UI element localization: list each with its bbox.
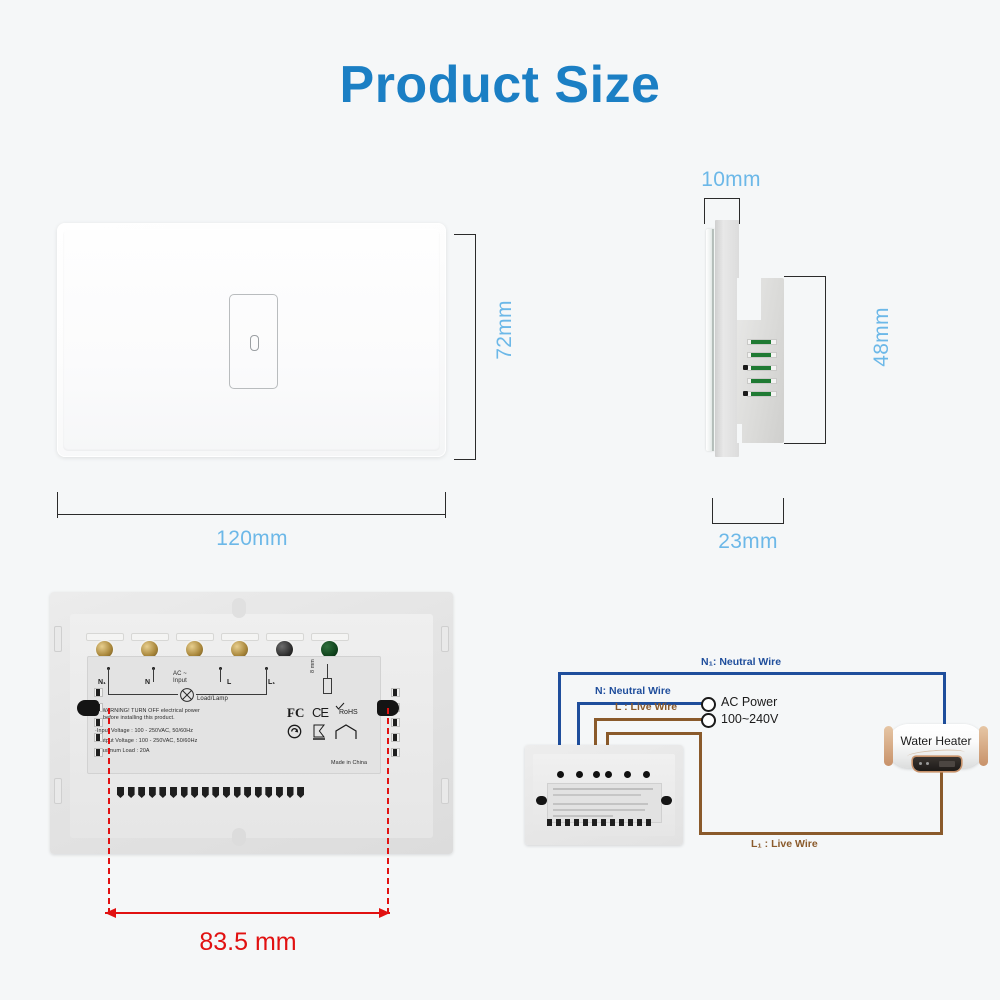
recycle-icon xyxy=(287,724,302,739)
terminal-screw-dot xyxy=(743,365,748,370)
plate-ear xyxy=(54,778,62,804)
terminal-slot xyxy=(747,339,777,345)
module-depth-label: 23mm xyxy=(688,530,808,554)
module-depth-dimension-line xyxy=(712,498,784,524)
label-l-live-wire: L : Live Wire xyxy=(615,701,677,713)
terminal-slot xyxy=(747,365,777,371)
side-glass-edge xyxy=(712,229,714,451)
terminal-screw-dot xyxy=(743,391,748,396)
load-lamp-label: Load/Lamp xyxy=(197,696,228,704)
terminal-label-n: N xyxy=(145,679,150,686)
terminal-label-l: L xyxy=(227,679,231,686)
label-n1-neutral-wire: N₁: Neutral Wire xyxy=(701,656,781,668)
wire-l-horizontal xyxy=(594,718,705,721)
housing-notch xyxy=(737,424,742,443)
wiring-left-clip xyxy=(536,796,547,805)
made-in-china-house-icon xyxy=(335,724,357,740)
touch-key-button[interactable] xyxy=(229,294,278,389)
height-dimension-label: 72mm xyxy=(493,295,517,365)
water-heater-appliance: Water Heater xyxy=(887,724,985,774)
touch-switch-back-plate: N₁ N L L₁ AC ~ Input Load/Lamp 8 mm ⚠ WA… xyxy=(50,592,453,854)
housing-notch xyxy=(737,278,761,320)
voltage-terminal-icon xyxy=(701,713,716,728)
wire-n1-heater-drop xyxy=(943,672,946,728)
wiring-switch-label xyxy=(547,783,662,823)
ac-power-label: AC Power xyxy=(721,695,777,709)
wiring-terminal-dot xyxy=(557,771,564,778)
weee-hourglass-icon xyxy=(312,724,326,740)
label-n-neutral-wire: N: Neutral Wire xyxy=(595,685,671,697)
height-dimension-line xyxy=(458,234,492,460)
origin-label: Made in China xyxy=(331,760,367,767)
rohs-check-icon xyxy=(335,702,345,711)
top-tab xyxy=(232,598,246,618)
module-height-label: 48mm xyxy=(870,302,894,372)
wire-n1-horizontal xyxy=(558,672,946,675)
bottom-tab xyxy=(232,828,246,846)
terminal-cap xyxy=(176,633,214,641)
left-callout-dashed-line xyxy=(108,708,110,914)
wiring-right-clip xyxy=(661,796,672,805)
wiring-switch-module xyxy=(525,745,683,845)
ce-icon: CE xyxy=(312,705,328,720)
page-title: Product Size xyxy=(0,55,1000,115)
wiring-terminal-dot xyxy=(643,771,650,778)
label-l1-live-wire: L₁ : Live Wire xyxy=(751,838,818,850)
left-mounting-clip xyxy=(77,700,99,716)
heater-control-panel xyxy=(913,757,961,771)
terminal-slot xyxy=(747,391,777,397)
strip-length-label: 8 mm xyxy=(310,659,317,673)
terminal-cap xyxy=(86,633,124,641)
wire-l1-heater-riser xyxy=(940,770,943,835)
terminal-slot xyxy=(747,352,777,358)
mounting-width-dimension xyxy=(105,912,390,914)
wire-l1-horizontal xyxy=(606,732,702,735)
wire-l1-bottom-rail xyxy=(699,832,943,835)
plate-ear xyxy=(441,626,449,652)
fcc-icon: FC xyxy=(287,705,304,721)
lamp-symbol-icon xyxy=(179,687,195,703)
terminal-cap xyxy=(131,633,169,641)
wiring-terminal-dot xyxy=(624,771,631,778)
mounting-width-label: 83.5 mm xyxy=(120,928,376,957)
plate-ear xyxy=(54,626,62,652)
width-dimension-line xyxy=(57,492,446,518)
glass-thickness-label: 10mm xyxy=(686,168,776,192)
spec-output-voltage: ·Output Voltage : 100 - 250VAC, 50/60Hz xyxy=(95,738,197,745)
terminal-cap xyxy=(266,633,304,641)
touch-switch-front-panel xyxy=(57,223,446,457)
module-height-dimension-line xyxy=(784,276,826,444)
spec-max-load: ·Maximum Load : 20A xyxy=(95,748,150,755)
wire-l1-drop xyxy=(699,732,702,835)
wiring-terminal-dot xyxy=(605,771,612,778)
terminal-label-n1: N₁ xyxy=(98,679,106,686)
terminal-label-l1: L₁ xyxy=(268,679,275,686)
voltage-label: 100~240V xyxy=(721,712,778,726)
width-dimension-label: 120mm xyxy=(152,527,352,551)
wiring-terminal-dot xyxy=(593,771,600,778)
warning-line-2: before installing this product. xyxy=(103,715,175,722)
ac-input-line2: Input xyxy=(173,678,187,686)
wiring-terminal-dot xyxy=(576,771,583,778)
terminal-slot xyxy=(747,378,777,384)
right-callout-dashed-line xyxy=(387,708,389,914)
touch-indicator-icon xyxy=(250,335,259,351)
product-spec-label: N₁ N L L₁ AC ~ Input Load/Lamp 8 mm ⚠ WA… xyxy=(87,656,381,774)
bottom-vent-strip xyxy=(117,787,304,798)
water-heater-label: Water Heater xyxy=(887,734,985,748)
side-switch-body xyxy=(715,220,739,457)
product-size-infographic: Product Size 72mm 120mm 10mm xyxy=(0,0,1000,1000)
water-heater-wiring-diagram: N₁: Neutral Wire N: Neutral Wire L : Liv… xyxy=(515,640,985,870)
plate-ear xyxy=(441,778,449,804)
left-vent-column xyxy=(94,688,103,757)
terminal-cap xyxy=(221,633,259,641)
ac-power-terminal-icon xyxy=(701,697,716,712)
right-vent-column xyxy=(391,688,400,757)
terminal-cap xyxy=(311,633,349,641)
